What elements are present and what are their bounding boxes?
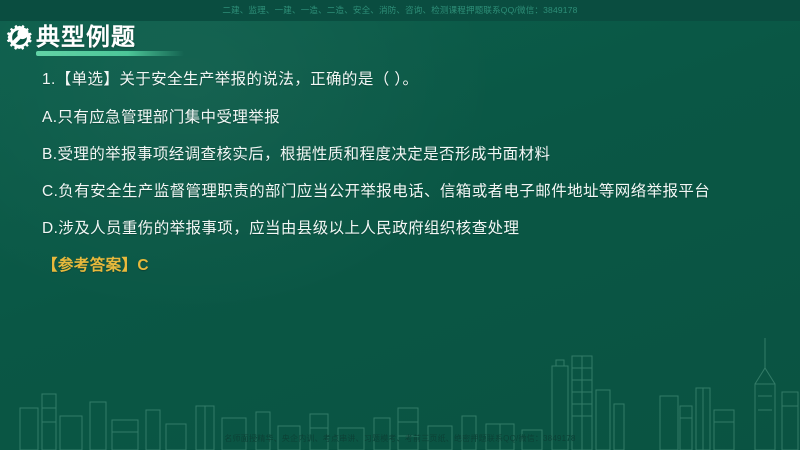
slide-canvas: 二建、监理、一建、一造、二造、安全、消防、咨询、检测课程押题联系QQ/微信：38… — [0, 0, 800, 450]
top-promo-banner: 二建、监理、一建、一造、二造、安全、消防、咨询、检测课程押题联系QQ/微信：38… — [0, 0, 800, 21]
question-content: 1.【单选】关于安全生产举报的说法，正确的是（ ）。 A.只有应急管理部门集中受… — [14, 68, 780, 277]
option-a[interactable]: A.只有应急管理部门集中受理举报 — [14, 106, 780, 130]
footer-text: 名师面授精华、央企内训、考点串讲、习题模考、考前三页纸、绝密押题联系QQ/微信：… — [224, 435, 575, 443]
footer-promo-strip: 名师面授精华、央企内训、考点串讲、习题模考、考前三页纸、绝密押题联系QQ/微信：… — [0, 428, 800, 450]
option-b[interactable]: B.受理的举报事项经调查核实后，根据性质和程度决定是否形成书面材料 — [14, 143, 780, 167]
title-underline — [36, 51, 184, 56]
page-title: 典型例题 — [36, 25, 136, 50]
gear-wrench-icon — [6, 24, 33, 51]
slide-header: 典型例题 — [0, 21, 136, 54]
top-banner-text: 二建、监理、一建、一造、二造、安全、消防、咨询、检测课程押题联系QQ/微信：38… — [222, 6, 577, 15]
option-d[interactable]: D.涉及人员重伤的举报事项，应当由县级以上人民政府组织核查处理 — [14, 217, 780, 241]
reference-answer: 【参考答案】C — [14, 254, 780, 277]
option-c[interactable]: C.负有安全生产监督管理职责的部门应当公开举报电话、信箱或者电子邮件地址等网络举… — [14, 180, 780, 204]
question-stem: 1.【单选】关于安全生产举报的说法，正确的是（ ）。 — [14, 68, 780, 92]
